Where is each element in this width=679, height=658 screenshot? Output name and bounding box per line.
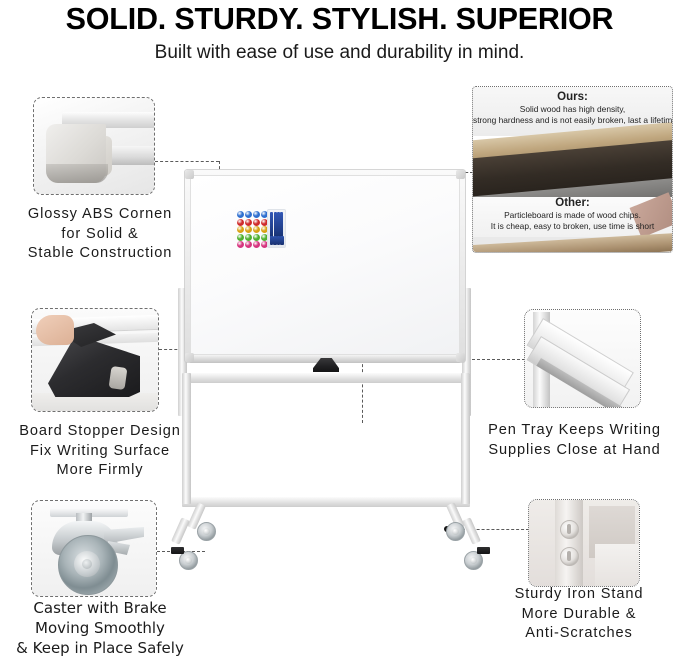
caster-caption: Caster with Brake Moving Smoothly & Keep… [0, 598, 200, 658]
caption-line: Pen Tray Keeps Writing [470, 421, 679, 441]
connector-line-corner-h [155, 161, 219, 162]
caption-line: Supplies Close at Hand [470, 441, 679, 461]
magnet [245, 211, 252, 218]
caption-line: Sturdy Iron Stand [479, 585, 679, 605]
caption-line: & Keep in Place Safely [0, 638, 200, 658]
caption-line: Anti-Scratches [479, 624, 679, 644]
stand-iron-post [555, 500, 583, 587]
caster-brake-right [477, 547, 490, 554]
magnet [253, 234, 260, 241]
iron-stand-caption: Sturdy Iron Stand More Durable & Anti-Sc… [479, 585, 679, 644]
magnet [237, 211, 244, 218]
caster-axle [82, 559, 92, 569]
stand-screw-bottom [560, 547, 579, 566]
other-heading: Other: [473, 197, 672, 210]
whiteboard-corner-bl [185, 353, 194, 362]
caption-line: Caster with Brake [0, 598, 200, 618]
corner-shadow [46, 164, 108, 183]
stand-rail-bottom [182, 497, 470, 507]
ours-line: Solid wood has high density, [473, 104, 672, 115]
iron-stand-image [528, 499, 640, 587]
caption-line: Moving Smoothly [0, 618, 200, 638]
magnet [245, 234, 252, 241]
caster-brake-left [171, 547, 184, 554]
whiteboard-corner-br [456, 353, 465, 362]
whiteboard-writing-surface [190, 175, 460, 355]
magnet [253, 211, 260, 218]
ours-heading: Ours: [473, 91, 672, 104]
other-line: Particleboard is made of wood chips. [473, 210, 672, 221]
caster-right-back [446, 522, 465, 541]
stopper-rubber-pad [109, 366, 128, 390]
wood-comparison-image: Ours: Solid wood has high density, stron… [472, 86, 673, 253]
stand-foot-left-front [171, 517, 190, 544]
magnet [253, 219, 260, 226]
whiteboard-frame [185, 170, 465, 362]
page-subtitle: Built with ease of use and durability in… [0, 42, 679, 64]
magnet [237, 219, 244, 226]
marker-pack [267, 209, 286, 248]
stand-rail-top [182, 373, 470, 383]
marker [280, 212, 283, 238]
stand-leg-left [182, 373, 191, 504]
marker [270, 212, 273, 238]
marker-cap [280, 236, 283, 245]
caster-image [31, 500, 157, 597]
product-image-whiteboard [170, 170, 490, 600]
magnet [245, 219, 252, 226]
stand-leg-right [461, 373, 470, 504]
ours-label: Ours: Solid wood has high density, stron… [473, 91, 672, 126]
stand-screw-top [560, 520, 579, 539]
other-line: It is cheap, easy to broken, use time is… [473, 221, 672, 232]
hand-pressing-stopper [36, 315, 74, 345]
page-title: SOLID. STURDY. STYLISH. SUPERIOR [0, 2, 679, 37]
ours-line: strong hardness and is not easily broken… [473, 115, 672, 126]
pen-tray-caption: Pen Tray Keeps Writing Supplies Close at… [470, 421, 679, 460]
caster-left-back [197, 522, 216, 541]
whiteboard-corner-tl [185, 170, 194, 179]
stand-panel-lower [595, 544, 640, 587]
magnet [237, 234, 244, 241]
pen-tray-image [524, 309, 641, 408]
whiteboard-corner-tr [456, 170, 465, 179]
caption-line: More Durable & [479, 605, 679, 625]
other-label: Other: Particleboard is made of wood chi… [473, 197, 672, 232]
abs-corner-image [33, 97, 155, 195]
board-stopper-image [31, 308, 159, 412]
